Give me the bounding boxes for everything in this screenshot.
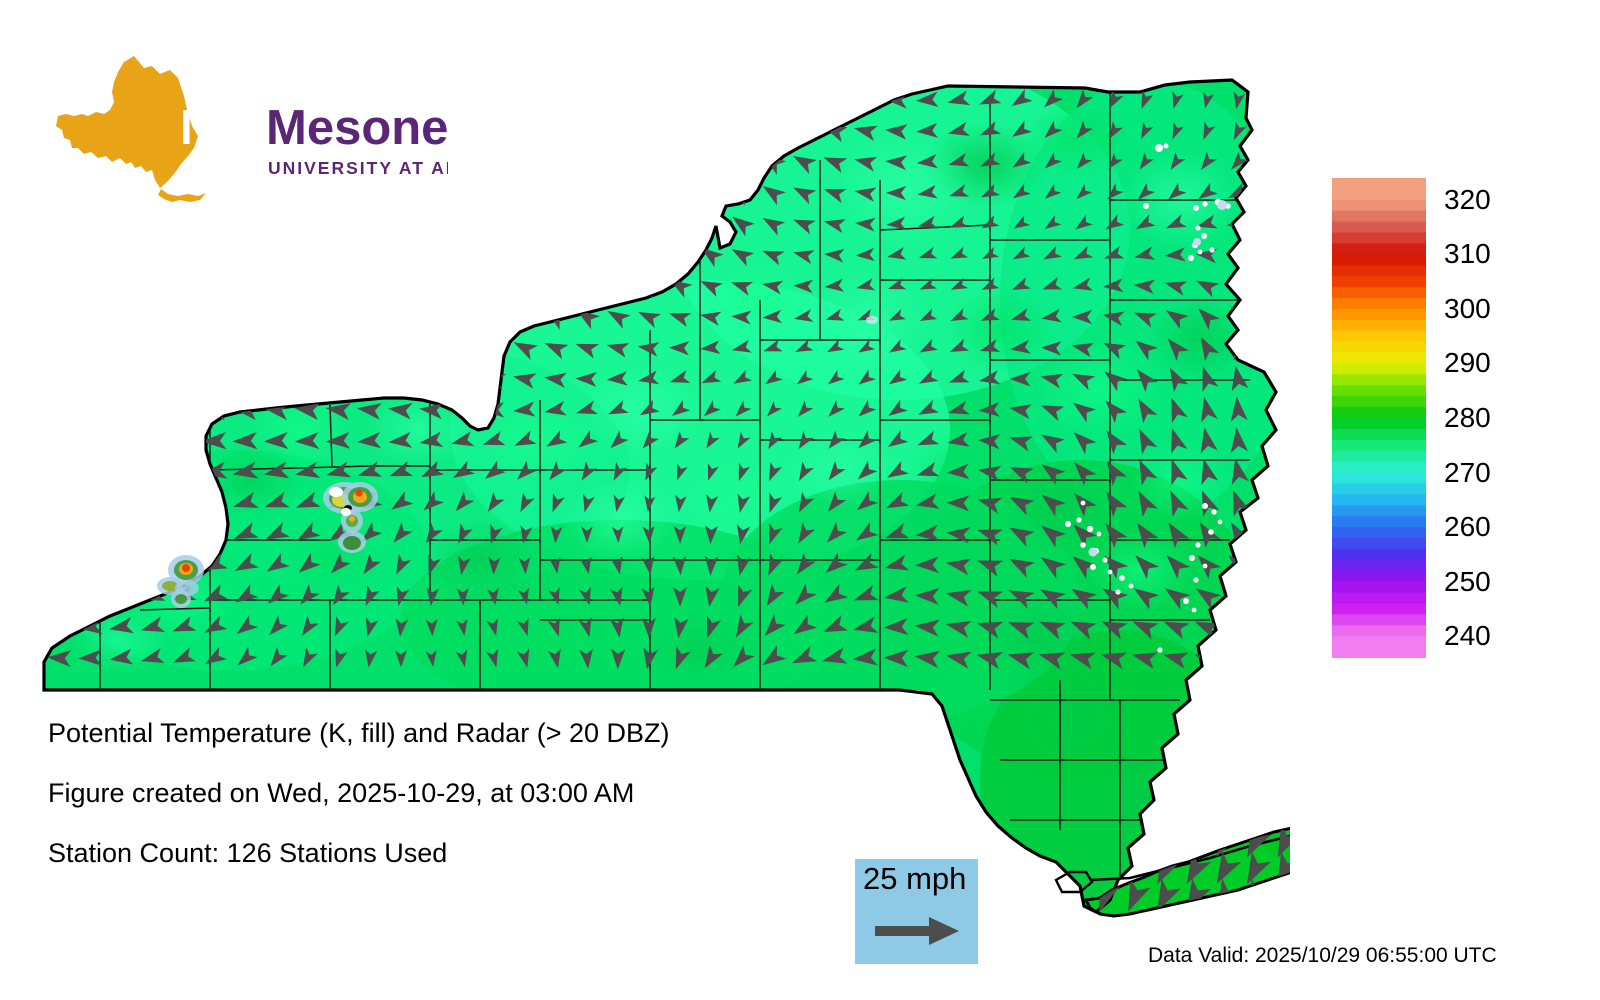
wind-arrow <box>76 554 104 576</box>
wind-arrow <box>447 302 477 331</box>
wind-arrow <box>354 334 384 362</box>
wind-arrow <box>511 208 538 238</box>
wind-arrow <box>76 523 104 545</box>
colorbar-tick-280: 280 <box>1444 404 1491 432</box>
wind-arrow <box>138 462 165 483</box>
wind-arrow <box>323 366 352 390</box>
wind-arrow <box>323 334 353 362</box>
wind-arrow <box>45 333 73 361</box>
wind-arrow <box>107 462 134 482</box>
wind-arrow <box>510 239 538 269</box>
wind-arrow <box>238 211 255 235</box>
wind-arrow <box>47 302 72 329</box>
wind-arrow <box>727 147 756 175</box>
wind-arrow <box>45 555 72 576</box>
wind-arrow <box>480 177 506 207</box>
wind-arrow <box>141 271 164 298</box>
wind-arrow <box>145 211 162 234</box>
wind-arrow <box>541 239 569 269</box>
wind-arrow <box>268 210 286 235</box>
wind-arrow <box>177 89 191 108</box>
wind-arrow <box>665 178 693 207</box>
wind-arrow <box>634 240 662 268</box>
wind-arrow <box>448 367 475 390</box>
wind-arrow <box>199 333 229 362</box>
wind-arrow <box>665 146 694 176</box>
wind-arrow <box>75 398 104 422</box>
wind-arrow <box>169 462 196 483</box>
wind-arrow <box>235 240 256 267</box>
wind-arrow <box>603 240 631 269</box>
wind-arrow <box>175 241 194 266</box>
wind-arrow <box>356 239 383 269</box>
wind-arrow <box>237 88 255 111</box>
wind-arrow <box>82 120 99 141</box>
wind-arrow <box>1237 798 1271 836</box>
wind-arrow <box>230 301 259 331</box>
wind-arrow <box>695 116 725 145</box>
wind-arrow <box>298 148 318 174</box>
wind-arrow <box>292 333 322 361</box>
wind-arrow <box>107 492 135 514</box>
wind-arrow <box>392 148 411 173</box>
wind-arrow <box>261 366 290 391</box>
wind-arrow <box>137 365 167 391</box>
wind-arrow <box>392 118 409 142</box>
wind-arrow <box>361 117 380 142</box>
wind-arrow <box>114 212 130 234</box>
wind-reference-legend: 25 mph <box>855 859 978 964</box>
wind-arrow <box>82 242 100 265</box>
wind-arrow <box>385 301 415 330</box>
wind-arrow <box>76 586 103 607</box>
wind-arrow <box>114 120 129 140</box>
wind-arrow <box>511 177 538 207</box>
wind-arrow <box>139 301 166 330</box>
wind-arrow <box>80 272 101 298</box>
colorbar-tick-290: 290 <box>1444 349 1491 377</box>
wind-arrow <box>145 89 161 109</box>
wind-arrow <box>113 89 131 110</box>
wind-arrow <box>450 177 475 206</box>
wind-arrow <box>386 367 414 391</box>
wind-arrow <box>447 334 476 361</box>
wind-arrow <box>175 149 194 173</box>
wind-arrow <box>789 87 818 112</box>
wind-arrow <box>265 240 288 268</box>
wind-arrow <box>852 90 878 110</box>
wind-arrow <box>114 181 130 202</box>
wind-arrow <box>542 84 569 114</box>
wind-arrow <box>696 178 724 206</box>
wind-arrow <box>202 270 227 299</box>
wind-arrow <box>330 180 347 204</box>
wind-arrow <box>417 270 446 300</box>
wind-arrow <box>175 180 194 204</box>
wind-arrow <box>293 270 321 300</box>
wind-arrow <box>329 86 349 111</box>
wind-arrow <box>324 270 353 300</box>
wind-arrow <box>236 148 257 173</box>
colorbar-tick-260: 260 <box>1444 513 1491 541</box>
wind-arrow <box>542 208 570 238</box>
caption-created: Figure created on Wed, 2025-10-29, at 03… <box>48 778 868 809</box>
colorbar-tick-240: 240 <box>1444 622 1491 650</box>
wind-arrow <box>361 86 380 111</box>
wind-arrow <box>83 151 99 172</box>
wind-arrow <box>665 241 693 268</box>
wind-arrow <box>479 270 508 300</box>
wind-arrow <box>115 151 129 171</box>
wind-arrow <box>146 120 160 140</box>
wind-arrow <box>78 302 103 330</box>
wind-arrow <box>199 366 229 391</box>
wind-arrow <box>417 239 445 269</box>
wind-arrow <box>323 301 353 331</box>
wind-arrow <box>76 493 104 514</box>
wind-arrow <box>176 119 193 141</box>
wind-arrow <box>453 86 473 112</box>
wind-arrow <box>175 211 193 235</box>
wind-arrow <box>107 585 134 607</box>
wind-arrow <box>1207 798 1241 836</box>
wind-arrow <box>169 492 197 515</box>
wind-arrow <box>417 367 445 390</box>
wind-arrow <box>634 209 662 238</box>
wind-arrow <box>634 146 663 176</box>
wind-arrow <box>392 87 410 111</box>
wind-arrow <box>1268 879 1290 916</box>
wind-arrow <box>299 179 317 204</box>
wind-arrow <box>449 208 476 238</box>
colorbar-gradient <box>1332 178 1426 658</box>
wind-arrow <box>169 523 197 547</box>
wind-arrow <box>144 180 162 203</box>
wind-arrow <box>634 177 662 207</box>
wind-arrow <box>298 210 318 236</box>
wind-arrow <box>168 333 198 362</box>
wind-arrow <box>205 241 225 267</box>
wind-arrow <box>268 87 287 111</box>
colorbar-tick-310: 310 <box>1444 240 1491 268</box>
figure-captions: Potential Temperature (K, fill) and Rada… <box>48 718 868 898</box>
wind-arrow <box>451 147 474 175</box>
wind-arrow <box>820 88 847 111</box>
arrow-right-icon <box>875 914 961 948</box>
wind-arrow <box>205 149 225 174</box>
wind-arrow <box>267 117 288 142</box>
wind-arrow <box>354 366 383 390</box>
wind-arrow <box>416 302 446 331</box>
wind-arrow <box>664 85 694 114</box>
wind-arrow <box>602 84 632 114</box>
wind-arrow <box>263 270 290 300</box>
wind-arrow <box>386 270 415 300</box>
wind-arrow <box>207 89 223 110</box>
wind-arrow <box>330 148 349 173</box>
wind-arrow <box>696 210 724 237</box>
wind-arrow <box>512 84 537 113</box>
colorbar-tick-300: 300 <box>1444 295 1491 323</box>
wind-arrow <box>137 333 167 362</box>
wind-arrow <box>168 366 198 392</box>
wind-arrow <box>423 87 441 111</box>
wind-arrow <box>107 554 135 577</box>
wind-arrow <box>236 179 256 204</box>
wind-arrow <box>138 523 166 546</box>
wind-arrow <box>482 85 505 113</box>
wind-arrow <box>354 301 384 331</box>
wind-arrow <box>51 212 68 234</box>
wind-arrow <box>757 86 786 112</box>
wind-arrow <box>298 117 319 143</box>
wind-arrow <box>419 208 445 238</box>
wind-arrow <box>113 242 131 266</box>
caption-title: Potential Temperature (K, fill) and Rada… <box>48 718 868 749</box>
wind-arrow <box>206 118 225 141</box>
wind-arrow <box>328 209 350 236</box>
wind-arrow <box>267 148 288 174</box>
wind-arrow <box>200 301 229 331</box>
wind-arrow <box>292 366 321 391</box>
wind-arrow <box>44 365 73 392</box>
caption-station-count: Station Count: 126 Stations Used <box>48 838 868 869</box>
wind-arrow <box>46 463 71 481</box>
wind-arrow <box>481 146 506 175</box>
wind-arrow <box>360 179 379 205</box>
wind-arrow <box>1177 798 1211 836</box>
wind-arrow <box>172 271 196 299</box>
wind-arrow <box>107 523 135 546</box>
wind-arrow <box>298 87 318 112</box>
wind-arrow <box>49 272 70 298</box>
wind-arrow <box>510 270 539 299</box>
wind-arrow <box>170 432 195 450</box>
wind-arrow <box>108 432 134 451</box>
wind-arrow <box>388 208 413 237</box>
wind-arrow <box>633 115 663 145</box>
wind-arrow <box>572 271 600 299</box>
wind-arrow <box>448 239 476 269</box>
wind-arrow <box>45 430 72 451</box>
wind-arrow <box>45 523 73 544</box>
wind-arrow <box>50 242 69 266</box>
wind-arrow <box>452 116 474 143</box>
wind-arrow <box>572 239 600 268</box>
wind-arrow <box>81 89 100 109</box>
wind-arrow <box>261 301 291 331</box>
wind-arrow <box>421 147 442 174</box>
wind-arrow <box>479 239 507 269</box>
wind-arrow <box>603 272 631 299</box>
wind-arrow <box>261 333 291 361</box>
wind-arrow <box>603 177 631 207</box>
wind-arrow <box>268 179 287 204</box>
wind-arrow <box>83 182 98 203</box>
wind-arrow <box>603 146 632 176</box>
wind-arrow <box>138 554 166 577</box>
colorbar-tick-320: 320 <box>1444 186 1491 214</box>
wind-arrow <box>385 334 415 361</box>
wind-arrow <box>448 270 477 300</box>
wind-arrow <box>326 239 352 269</box>
wind-arrow <box>145 150 162 172</box>
wind-arrow <box>44 397 73 422</box>
wind-arrow <box>75 365 104 392</box>
wind-arrow <box>665 209 693 237</box>
colorbar-tick-250: 250 <box>1444 568 1491 596</box>
wind-arrow <box>50 120 69 141</box>
wind-arrow <box>295 239 319 268</box>
wind-arrow <box>572 146 600 176</box>
wind-arrow <box>726 86 756 114</box>
wind-arrow <box>482 115 506 144</box>
wind-arrow <box>511 146 537 176</box>
wind-legend-label: 25 mph <box>863 861 966 897</box>
wind-arrow <box>169 399 197 421</box>
wind-arrow <box>572 208 600 238</box>
wind-arrow <box>603 208 631 237</box>
wind-arrow <box>106 365 136 392</box>
wind-arrow <box>633 84 663 114</box>
wind-arrow <box>329 117 349 143</box>
wind-arrow <box>138 492 166 515</box>
wind-arrow <box>478 302 507 330</box>
wind-arrow <box>46 586 72 606</box>
data-valid-timestamp: Data Valid: 2025/10/29 06:55:00 UTC <box>1148 944 1497 968</box>
wind-arrow <box>83 212 99 233</box>
wind-arrow <box>46 618 71 636</box>
wind-arrow <box>422 117 441 143</box>
wind-arrow <box>77 463 103 482</box>
colorbar <box>1332 178 1426 658</box>
wind-arrow <box>1148 825 1181 862</box>
wind-arrow <box>358 209 381 237</box>
wind-arrow <box>390 178 412 205</box>
wind-arrow <box>572 115 600 146</box>
wind-arrow <box>695 85 725 114</box>
wind-arrow <box>603 115 632 145</box>
wind-arrow <box>139 432 164 450</box>
wind-arrow <box>51 151 69 172</box>
wind-arrow <box>45 493 72 513</box>
wind-arrow <box>480 208 507 238</box>
wind-arrow <box>542 115 569 145</box>
wind-arrow <box>726 116 756 144</box>
wind-arrow <box>230 333 260 361</box>
wind-arrow <box>542 146 569 176</box>
wind-arrow <box>205 179 225 204</box>
wind-arrow <box>138 399 166 421</box>
wind-arrow <box>387 239 414 269</box>
wind-arrow <box>236 118 256 143</box>
wind-arrow <box>51 181 68 202</box>
wind-arrow <box>420 178 443 207</box>
wind-arrow <box>572 84 601 114</box>
wind-arrow <box>111 272 133 299</box>
wind-arrow <box>76 333 104 362</box>
wind-arrow <box>355 270 384 300</box>
wind-arrow <box>206 211 224 235</box>
colorbar-tick-270: 270 <box>1444 459 1491 487</box>
wind-arrow <box>1223 614 1252 639</box>
colorbar-tick-labels: 320310300290280270260250240 <box>1444 160 1564 680</box>
wind-arrow <box>512 115 538 145</box>
wind-arrow <box>169 301 197 331</box>
wind-arrow <box>572 177 600 207</box>
wind-arrow <box>292 301 322 331</box>
wind-arrow <box>361 149 379 174</box>
wind-arrow <box>232 270 258 299</box>
wind-arrow <box>1224 647 1251 669</box>
wind-arrow <box>107 333 136 362</box>
wind-arrow <box>144 242 162 266</box>
wind-arrow <box>107 398 135 421</box>
wind-arrow <box>696 147 725 176</box>
wind-arrow <box>542 177 569 207</box>
wind-arrow <box>108 302 134 331</box>
wind-arrow <box>230 366 259 391</box>
wind-arrow <box>664 115 694 145</box>
wind-arrow <box>50 90 69 109</box>
wind-arrow <box>757 117 786 144</box>
wind-arrow <box>416 334 446 361</box>
wind-arrow <box>77 431 104 451</box>
weather-map-figure: NYS Mesonet UNIVERSITY AT ALBANY <box>0 0 1600 1000</box>
wind-arrow <box>541 271 570 300</box>
